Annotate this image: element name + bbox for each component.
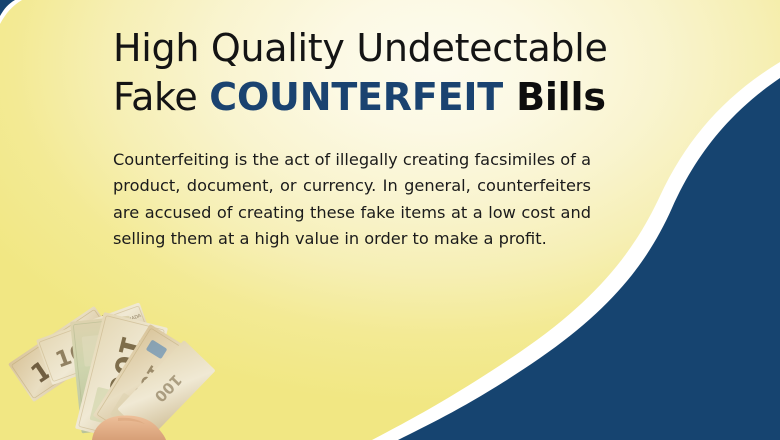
promotional-banner: High Quality Undetectable Fake COUNTERFE… — [0, 0, 780, 440]
headline-emphasis-counterfeit: COUNTERFEIT — [209, 75, 503, 119]
page-title: High Quality Undetectable Fake COUNTERFE… — [113, 24, 633, 121]
headline-line-2: Fake COUNTERFEIT Bills — [113, 73, 633, 122]
headline-prefix: Fake — [113, 75, 209, 119]
banknotes-photo: 100 BANK OF CANADA 100 BANQUE DU CANADA … — [0, 292, 236, 440]
headline-suffix-bills: Bills — [503, 75, 606, 119]
body-paragraph: Counterfeiting is the act of illegally c… — [113, 147, 591, 252]
headline-line-1: High Quality Undetectable — [113, 26, 608, 70]
text-content-block: High Quality Undetectable Fake COUNTERFE… — [113, 24, 633, 252]
